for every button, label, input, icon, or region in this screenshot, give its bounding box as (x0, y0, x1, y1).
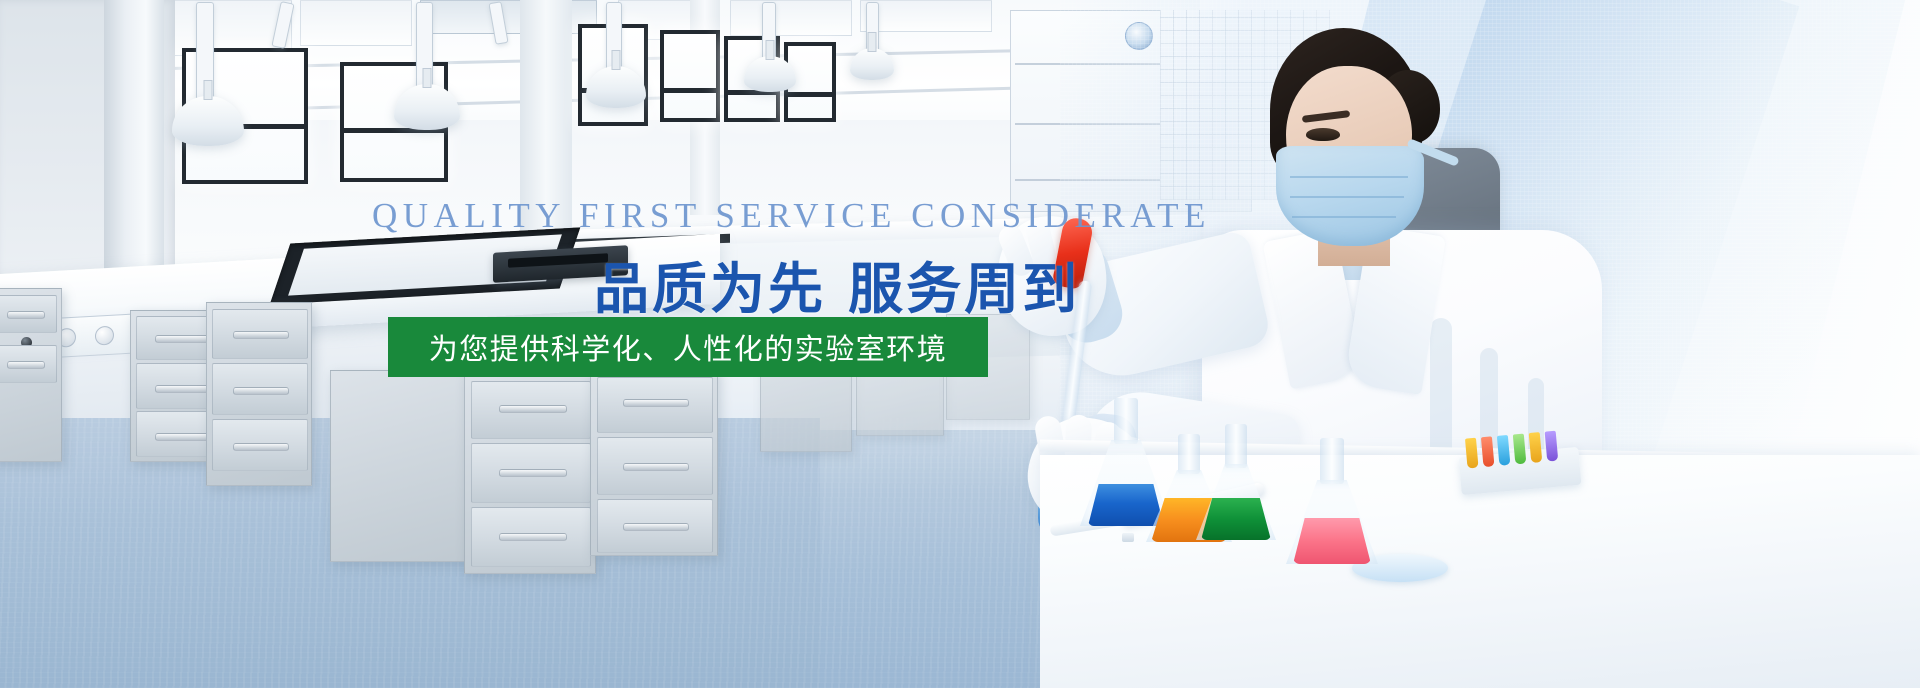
ceiling-panel (860, 0, 992, 32)
drawer-handle (623, 463, 689, 471)
ceiling-panel (300, 0, 412, 46)
drawer-handle (233, 443, 289, 451)
banner-headline: 品质为先 服务周到 (594, 244, 1080, 324)
banner-subtitle-text: 为您提供科学化、人性化的实验室环境 (429, 326, 948, 368)
flask-green (1196, 424, 1276, 542)
flask-neck (1320, 438, 1344, 484)
cabinet-b (206, 302, 312, 486)
drawer-handle (499, 533, 567, 541)
cabinet-c (330, 370, 482, 562)
flask-liquid-green (1201, 498, 1271, 540)
flask-liquid-pink (1293, 518, 1371, 564)
drawer-handle (155, 433, 209, 441)
window (660, 30, 720, 122)
bench-chip (1122, 533, 1134, 542)
flask-pink (1286, 436, 1378, 568)
cabinet-e (590, 368, 718, 556)
drawer-handle (623, 399, 689, 407)
banner-subtitle-bar: 为您提供科学化、人性化的实验室环境 (388, 317, 988, 377)
drawer-handle (499, 469, 567, 477)
mask-pleat (1290, 176, 1408, 178)
flask-neck (1114, 398, 1138, 444)
drawer-handle (155, 335, 209, 343)
drawer-handle (233, 331, 289, 339)
window-mullion (788, 92, 832, 97)
structural-pillar (104, 0, 164, 300)
cabinet-left (0, 288, 62, 462)
flask-neck (1225, 424, 1247, 468)
cabinet-d (464, 372, 596, 574)
drawer-handle (7, 361, 45, 369)
mask-pleat (1290, 196, 1404, 198)
eye (1306, 128, 1340, 141)
banner-copy: QUALITY FIRST SERVICE CONSIDERATE 品质为先 服… (368, 196, 1048, 386)
drawer-handle (499, 405, 567, 413)
window-mullion (664, 88, 716, 93)
drawer-handle (7, 311, 45, 319)
mask-pleat (1292, 216, 1396, 218)
valve-knob (95, 326, 114, 346)
hero-banner: QUALITY FIRST SERVICE CONSIDERATE 品质为先 服… (0, 0, 1920, 688)
drawer-handle (155, 385, 209, 393)
drawer-handle (623, 523, 689, 531)
ceiling-panel (730, 0, 852, 36)
banner-eyebrow-text: QUALITY FIRST SERVICE CONSIDERATE (372, 196, 1211, 236)
drawer-handle (233, 387, 289, 395)
